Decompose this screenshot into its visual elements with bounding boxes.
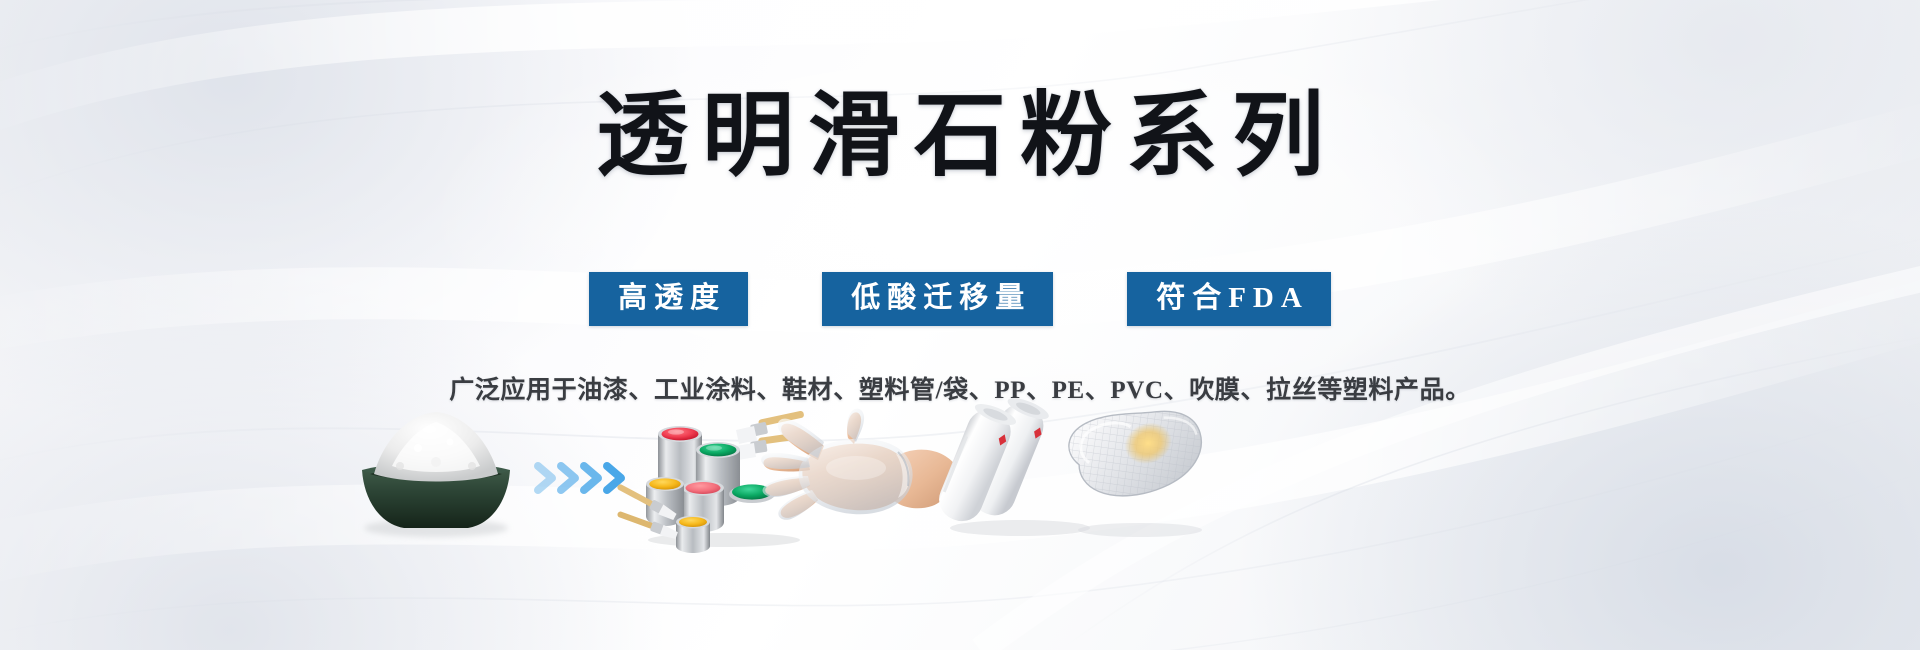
feature-badge-fda-compliant: 符合FDA <box>1127 272 1331 326</box>
feature-badge-high-transparency: 高透度 <box>589 272 748 326</box>
application-figure-strip <box>320 418 1610 568</box>
paint-can-yellow-small <box>676 516 710 553</box>
process-arrows-icon <box>532 454 637 502</box>
feature-badge-group: 高透度 低酸迁移量 符合FDA <box>0 272 1920 326</box>
feature-badge-low-acid-migration: 低酸迁移量 <box>822 272 1053 326</box>
talc-powder-bowl-image <box>340 408 530 538</box>
page-title: 透明滑石粉系列 <box>0 88 1920 185</box>
shoe-sole-image <box>1060 396 1220 544</box>
banner-content: 透明滑石粉系列 高透度 低酸迁移量 符合FDA 广泛应用于油漆、工业涂料、鞋材、… <box>0 0 1920 650</box>
product-banner: 透明滑石粉系列 高透度 低酸迁移量 符合FDA 广泛应用于油漆、工业涂料、鞋材、… <box>0 0 1920 650</box>
